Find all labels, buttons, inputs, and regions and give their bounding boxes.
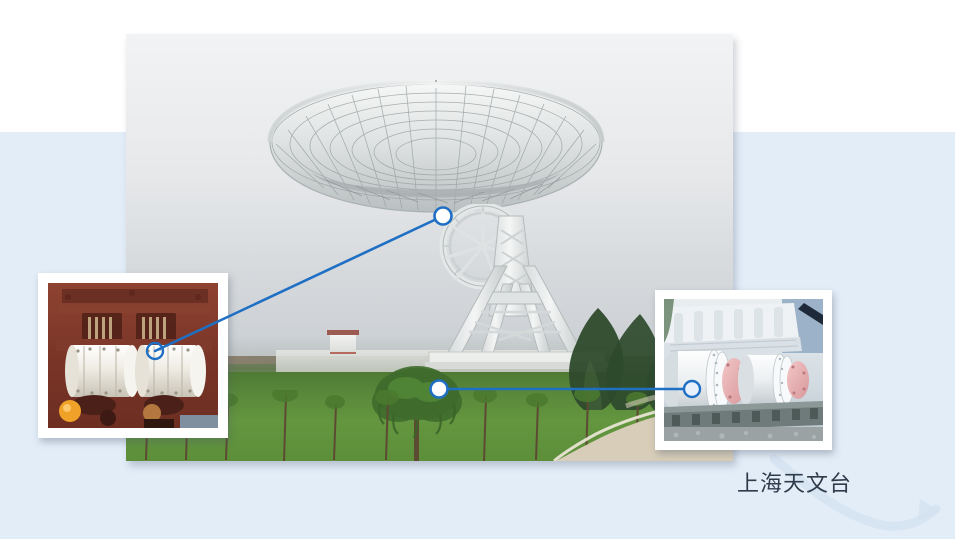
inset-left-image <box>48 283 218 428</box>
inset-right-image <box>664 299 823 441</box>
inset-photo-left <box>38 273 228 438</box>
slide-caption: 上海天文台 <box>737 470 852 498</box>
inset-photo-right <box>655 290 832 450</box>
slide-canvas: 上海天文台 <box>0 0 955 539</box>
